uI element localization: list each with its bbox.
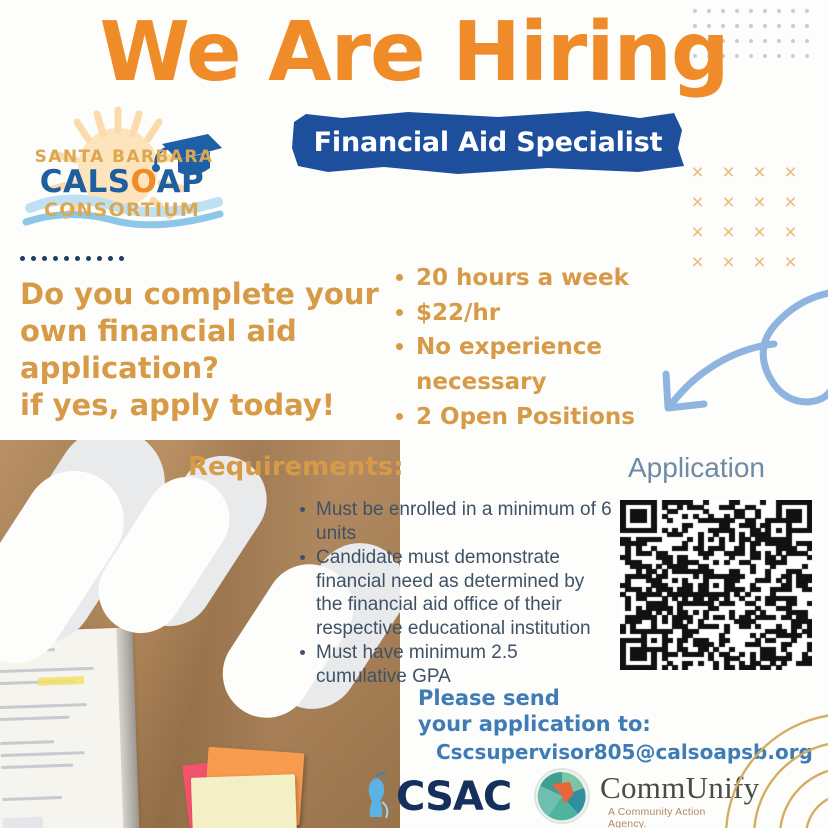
x-mark-icon: × <box>775 158 806 188</box>
rule-dot <box>97 256 102 261</box>
question-line-3: application? <box>20 350 380 387</box>
rule-dot <box>86 256 91 261</box>
perk-item: 2 Open Positions <box>392 401 662 434</box>
x-mark-icon: × <box>713 218 744 248</box>
requirement-item: Must have minimum 2.5 cumulative GPA <box>300 641 612 688</box>
requirements-title: Requirements: <box>188 452 404 482</box>
x-mark-icon: × <box>744 188 775 218</box>
question-line-4: if yes, apply today! <box>20 387 380 424</box>
calsoap-logo: SANTA BARBARA CALSOAP CONSORTIUM <box>22 104 232 239</box>
dotted-rule-decoration <box>20 256 124 261</box>
requirements-list: Must be enrolled in a minimum of 6 units… <box>300 498 612 689</box>
requirement-item: Must be enrolled in a minimum of 6 units <box>300 498 612 545</box>
rule-dot <box>20 256 25 261</box>
sticky-note-cream <box>191 774 297 828</box>
x-mark-icon: × <box>682 248 713 278</box>
x-mark-icon: × <box>744 158 775 188</box>
x-grid-decoration: ×××××××××××××××× <box>682 158 806 278</box>
rule-dot <box>31 256 36 261</box>
send-application-block: Please send your application to: <box>418 686 651 737</box>
x-mark-icon: × <box>682 158 713 188</box>
logo-line-main: CALSOAP <box>40 164 205 200</box>
question-block: Do you complete your own financial aid a… <box>20 276 380 424</box>
send-line-2: your application to: <box>418 712 651 738</box>
job-title-text: Financial Aid Specialist <box>288 108 688 176</box>
x-mark-icon: × <box>775 218 806 248</box>
x-mark-icon: × <box>713 158 744 188</box>
question-line-1: Do you complete your <box>20 276 380 313</box>
send-line-1: Please send <box>418 686 651 712</box>
gold-arcs-decoration <box>698 684 828 828</box>
communify-emblem-icon <box>534 768 590 824</box>
csac-wordmark: CSAC <box>396 774 511 820</box>
rule-dot <box>119 256 124 261</box>
hiring-flyer: We Are Hiring <box>0 0 828 828</box>
job-title-banner: Financial Aid Specialist <box>288 108 688 176</box>
application-label: Application <box>628 452 765 484</box>
x-mark-icon: × <box>744 248 775 278</box>
x-mark-icon: × <box>744 218 775 248</box>
rule-dot <box>75 256 80 261</box>
perk-item: No experience <box>392 331 662 364</box>
x-mark-icon: × <box>682 188 713 218</box>
application-qr-code[interactable] <box>620 500 812 670</box>
x-mark-icon: × <box>775 248 806 278</box>
csac-logo: CSAC <box>358 770 506 822</box>
perk-item: 20 hours a week <box>392 262 662 295</box>
curly-arrow-icon <box>648 282 828 452</box>
perk-item: $22/hr <box>392 297 662 330</box>
x-mark-icon: × <box>775 188 806 218</box>
perk-item: necessary <box>392 366 662 399</box>
rule-dot <box>53 256 58 261</box>
csac-figure-icon <box>358 772 394 824</box>
x-mark-icon: × <box>682 218 713 248</box>
requirement-item: Candidate must demonstrate financial nee… <box>300 546 612 640</box>
logo-line-bottom: CONSORTIUM <box>44 199 200 221</box>
rule-dot <box>108 256 113 261</box>
rule-dot <box>42 256 47 261</box>
x-mark-icon: × <box>713 248 744 278</box>
rule-dot <box>64 256 69 261</box>
question-line-2: own financial aid <box>20 313 380 350</box>
x-mark-icon: × <box>713 188 744 218</box>
page-title: We Are Hiring <box>0 12 828 94</box>
perks-list: 20 hours a week$22/hrNo experiencenecess… <box>392 262 662 435</box>
communify-name-part1: Comm <box>600 770 686 805</box>
